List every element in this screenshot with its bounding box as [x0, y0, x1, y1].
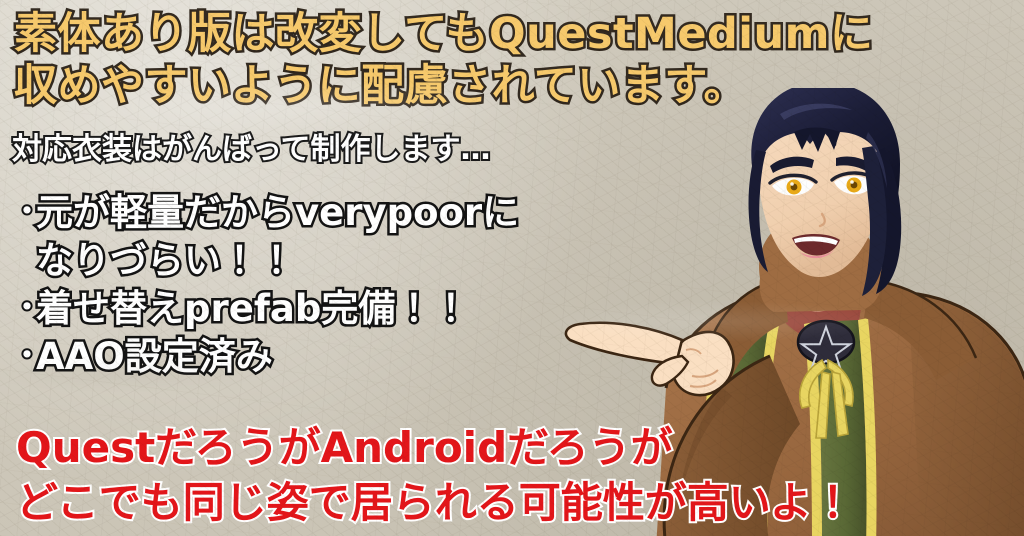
list-item: ・ AAO設定済み	[10, 334, 570, 380]
title-line-1: 素体あり版は改変してもQuestMediumに	[14, 9, 873, 59]
bullet-marker-icon: ・	[10, 286, 36, 330]
feature-bullet-list: ・ 元が軽量だからverypoorに ・ なりづらい！！ ・ 着せ替えprefa…	[10, 190, 570, 382]
bullet-spacer: ・	[10, 238, 36, 282]
list-item: ・ 着せ替えprefab完備！！	[10, 286, 570, 332]
bullet-marker-icon: ・	[10, 334, 36, 378]
footer-line-1: QuestだろうがAndroidだろうが	[16, 423, 673, 472]
footer-line-2: どこでも同じ姿で居られる可能性が高いよ！	[16, 478, 854, 527]
text-layer: 素体あり版は改変してもQuestMediumに収めやすいように配慮されています。…	[0, 0, 1024, 536]
list-item-label: 元が軽量だからverypoorに	[36, 190, 519, 236]
bullet-marker-icon: ・	[10, 190, 36, 234]
footer-callout: QuestだろうがAndroidだろうがどこでも同じ姿で居られる可能性が高いよ！	[16, 420, 1016, 530]
list-item-label: AAO設定済み	[36, 334, 273, 380]
subtitle: 対応衣装はがんばって制作します…	[12, 133, 491, 167]
list-item: ・ 元が軽量だからverypoorに	[10, 190, 570, 236]
promo-slide: 素体あり版は改変してもQuestMediumに収めやすいように配慮されています。…	[0, 0, 1024, 536]
list-item-continuation: ・ なりづらい！！	[10, 238, 570, 284]
title-line-2: 収めやすいように配慮されています。	[14, 61, 747, 111]
list-item-label-wrap: なりづらい！！	[36, 238, 295, 284]
list-item-label: 着せ替えprefab完備！！	[36, 286, 469, 332]
page-title: 素体あり版は改変してもQuestMediumに収めやすいように配慮されています。	[14, 8, 1014, 112]
